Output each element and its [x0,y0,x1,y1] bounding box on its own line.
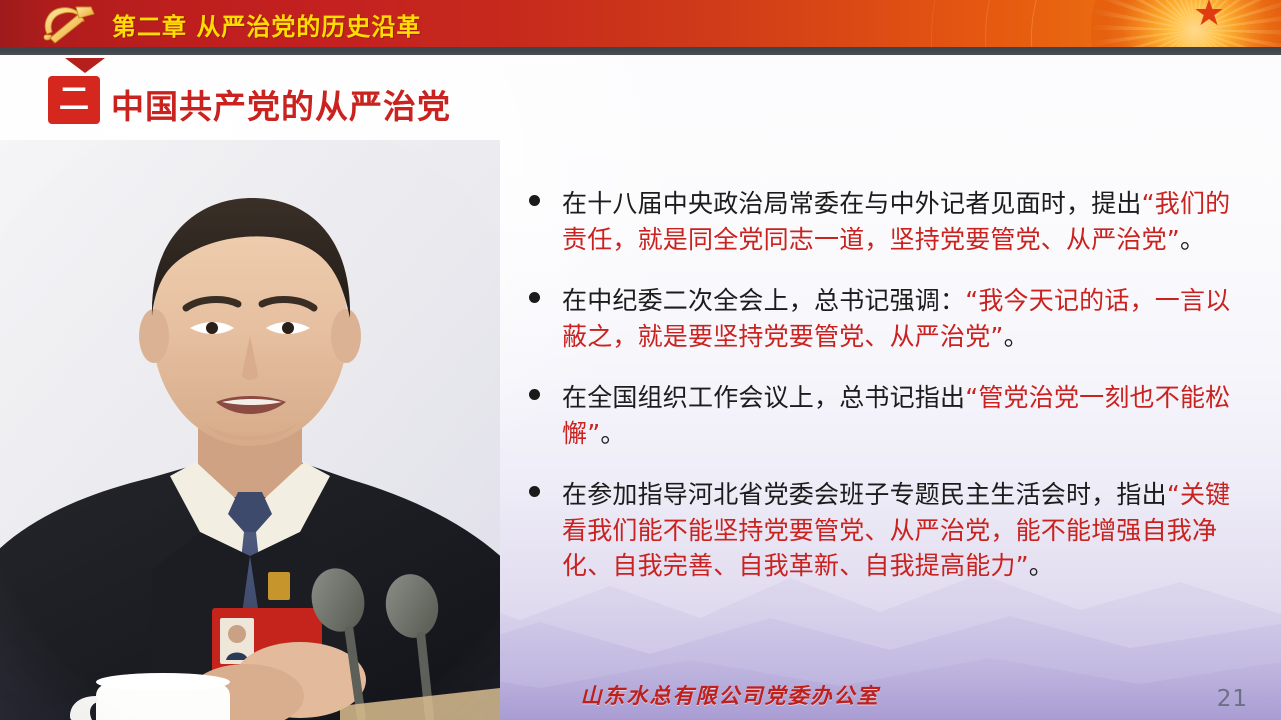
chapter-title: 第二章 从严治党的历史沿革 [112,7,421,42]
section-heading: 二 中国共产党的从严治党 [48,58,568,120]
sunburst-rays-decoration [1091,0,1281,47]
header-divider-bar [0,47,1281,55]
bullet-marker-icon [529,292,540,303]
bullet-tail-text: 。 [600,419,625,448]
bullet-text: 在中纪委二次全会上，总书记强调：“我今天记的话，一言以蔽之，就是要坚持党要管党、… [562,283,1236,354]
bullet-tail-text: 。 [1029,551,1054,580]
bullet-lead-text: 在中纪委二次全会上，总书记强调： [562,286,965,315]
caret-down-icon [65,58,105,73]
section-title: 中国共产党的从严治党 [111,80,451,128]
bullet-lead-text: 在参加指导河北省党委会班子专题民主生活会时，指出 [562,480,1167,509]
bullet-tail-text: 。 [1180,225,1205,254]
bullet-list: 在十八届中央政治局常委在与中外记者见面时，提出“我们的责任，就是同全党同志一道，… [524,186,1236,610]
bullet-text: 在十八届中央政治局常委在与中外记者见面时，提出“我们的责任，就是同全党同志一道，… [562,186,1236,257]
bullet-marker-icon [529,486,540,497]
section-number-label: 二 [48,76,100,124]
page-number: 21 [1217,686,1248,712]
list-item: 在十八届中央政治局常委在与中外记者见面时，提出“我们的责任，就是同全党同志一道，… [524,186,1236,257]
slide-header-banner: ★ 第二章 从严治党的历史沿革 [0,0,1281,47]
list-item: 在全国组织工作会议上，总书记指出“管党治党一刻也不能松懈”。 [524,380,1236,451]
star-icon: ★ [1191,0,1227,32]
bullet-marker-icon [529,195,540,206]
bullet-lead-text: 在全国组织工作会议上，总书记指出 [562,383,965,412]
list-item: 在参加指导河北省党委会班子专题民主生活会时，指出“关键看我们能不能坚持党要管党、… [524,477,1236,584]
bullet-lead-text: 在十八届中央政治局常委在与中外记者见面时，提出 [562,189,1142,218]
bullet-text: 在全国组织工作会议上，总书记指出“管党治党一刻也不能松懈”。 [562,380,1236,451]
bullet-marker-icon [529,389,540,400]
presentation-slide: ★ 第二章 从严治党的历史沿革 [0,0,1281,720]
speaker-portrait-photo [0,140,500,720]
bullet-tail-text: 。 [1004,322,1029,351]
list-item: 在中纪委二次全会上，总书记强调：“我今天记的话，一言以蔽之，就是要坚持党要管党、… [524,283,1236,354]
hammer-and-sickle-icon [33,1,105,46]
bullet-text: 在参加指导河北省党委会班子专题民主生活会时，指出“关键看我们能不能坚持党要管党、… [562,477,1236,584]
footer-organization-label: 山东水总有限公司党委办公室 [560,680,900,710]
section-number-badge: 二 [48,76,100,124]
